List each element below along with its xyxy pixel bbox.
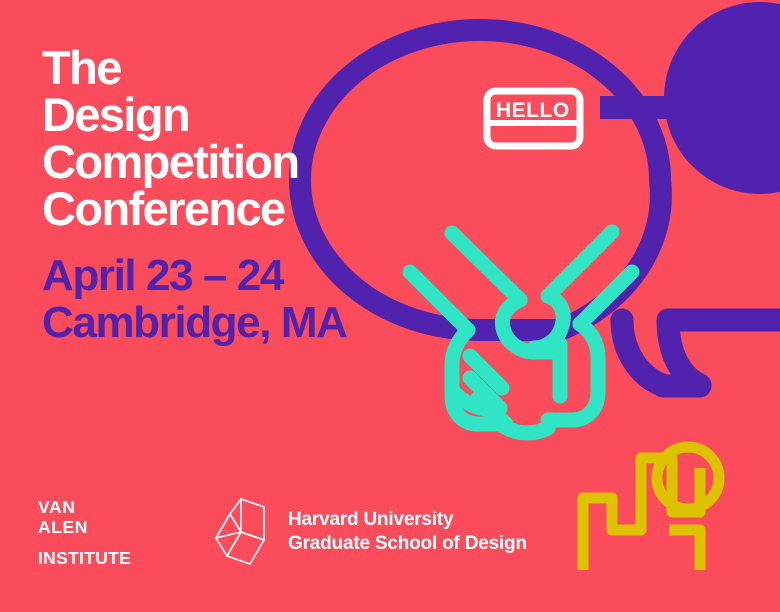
hello-badge-label: HELLO xyxy=(496,99,570,122)
van-alen-institute-logo: VAN ALEN INSTITUTE xyxy=(38,497,150,568)
headline-line-1: The xyxy=(42,44,472,91)
event-dates: April 23 – 24 xyxy=(42,252,472,299)
harvard-gsd-pinwheel-icon xyxy=(210,494,272,570)
van-alen-line-2: ALEN xyxy=(38,517,150,537)
headline: The Design Competition Conference xyxy=(42,44,472,232)
headline-line-2: Design xyxy=(42,91,472,138)
event-location: Cambridge, MA xyxy=(42,299,472,346)
harvard-gsd-line-2: Graduate School of Design xyxy=(288,532,527,556)
harvard-gsd-line-1: Harvard University xyxy=(288,508,527,532)
conference-poster: HELLO xyxy=(0,0,780,612)
harvard-gsd-wordmark: Harvard University Graduate School of De… xyxy=(288,508,527,556)
event-details: April 23 – 24 Cambridge, MA xyxy=(42,252,472,346)
circle-icon xyxy=(664,2,780,194)
connector-bar xyxy=(600,96,740,119)
harvard-gsd-logo: Harvard University Graduate School of De… xyxy=(210,494,527,570)
van-alen-line-1: VAN xyxy=(38,497,150,517)
logo-row: VAN ALEN INSTITUTE Harvard University Gr… xyxy=(38,494,527,570)
headline-line-3: Competition xyxy=(42,138,472,185)
van-alen-line-3: INSTITUTE xyxy=(38,548,150,568)
hello-name-badge-icon: HELLO xyxy=(487,91,580,146)
headline-line-4: Conference xyxy=(42,185,472,232)
city-skyline-icon xyxy=(583,447,719,570)
